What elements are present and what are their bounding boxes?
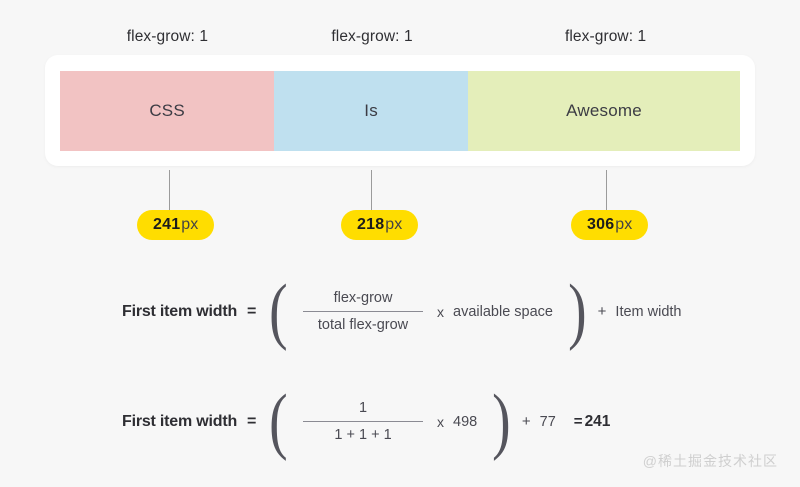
- formula-example-group: 1 1 + 1 + 1 x 498: [293, 398, 487, 446]
- flex-item-css-label: CSS: [149, 101, 185, 121]
- formula-example-multiplicand: 498: [453, 414, 477, 430]
- width-badge-2-unit: px: [385, 216, 402, 234]
- formula-example-denominator: 1 + 1 + 1: [328, 425, 397, 445]
- formula-general-addend: Item width: [615, 304, 681, 320]
- width-badge-1-value: 241: [153, 216, 180, 234]
- formula-general-paren-close: ): [568, 285, 586, 338]
- formula-example-tail: + 77 = 241: [522, 413, 611, 431]
- width-badge-3-unit: px: [615, 216, 632, 234]
- formula-example-paren-close: ): [492, 395, 510, 448]
- flex-item-is: Is: [274, 71, 468, 151]
- formula-general-tail: + Item width: [598, 303, 682, 320]
- flex-item-is-label: Is: [364, 101, 378, 121]
- watermark: @稀土掘金技术社区: [643, 451, 778, 471]
- formula-example-result-equals: =: [574, 413, 583, 430]
- flex-item-awesome: Awesome: [468, 71, 740, 151]
- formula-example-equals: =: [247, 413, 256, 431]
- flex-container-card: CSS Is Awesome: [45, 55, 755, 166]
- formula-general: First item width = ( flex-grow total fle…: [122, 285, 682, 338]
- formula-general-fraction-bar: [303, 311, 423, 313]
- flex-items-row: CSS Is Awesome: [60, 71, 740, 151]
- formula-general-fraction: flex-grow total flex-grow: [303, 288, 423, 336]
- formula-general-equals: =: [247, 303, 256, 321]
- formula-general-times: x: [437, 304, 444, 320]
- width-badge-2: 218 px: [341, 210, 418, 240]
- formula-example-fraction-bar: [303, 421, 423, 423]
- formula-example-times: x: [437, 414, 444, 430]
- formula-general-plus: +: [598, 303, 607, 320]
- formula-general-denominator: total flex-grow: [312, 315, 414, 335]
- flex-item-awesome-label: Awesome: [566, 101, 642, 121]
- width-badge-2-value: 218: [357, 216, 384, 234]
- formula-example-result: 241: [585, 413, 611, 431]
- formula-general-group: flex-grow total flex-grow x available sp…: [293, 288, 563, 336]
- width-badge-3: 306 px: [571, 210, 648, 240]
- flex-grow-caption-3: flex-grow: 1: [469, 24, 742, 50]
- formula-example-fraction: 1 1 + 1 + 1: [303, 398, 423, 446]
- formula-general-paren-open: (: [269, 285, 287, 338]
- formula-general-numerator: flex-grow: [328, 288, 399, 308]
- formula-example-addend: 77: [540, 414, 556, 430]
- width-badge-1-unit: px: [181, 216, 198, 234]
- width-badge-1: 241 px: [137, 210, 214, 240]
- formula-example-paren-open: (: [269, 395, 287, 448]
- flex-grow-caption-1: flex-grow: 1: [60, 24, 275, 50]
- formula-general-multiplicand: available space: [453, 304, 553, 320]
- formula-example-numerator: 1: [353, 398, 373, 418]
- flex-grow-caption-row: flex-grow: 1 flex-grow: 1 flex-grow: 1: [60, 24, 742, 50]
- flex-grow-caption-2: flex-grow: 1: [275, 24, 469, 50]
- formula-example: First item width = ( 1 1 + 1 + 1 x 498 )…: [122, 395, 610, 448]
- flex-item-css: CSS: [60, 71, 274, 151]
- diagram-canvas: flex-grow: 1 flex-grow: 1 flex-grow: 1 C…: [0, 0, 800, 487]
- width-badge-3-value: 306: [587, 216, 614, 234]
- formula-example-label: First item width: [122, 413, 237, 431]
- formula-example-plus: +: [522, 413, 531, 430]
- formula-general-label: First item width: [122, 303, 237, 321]
